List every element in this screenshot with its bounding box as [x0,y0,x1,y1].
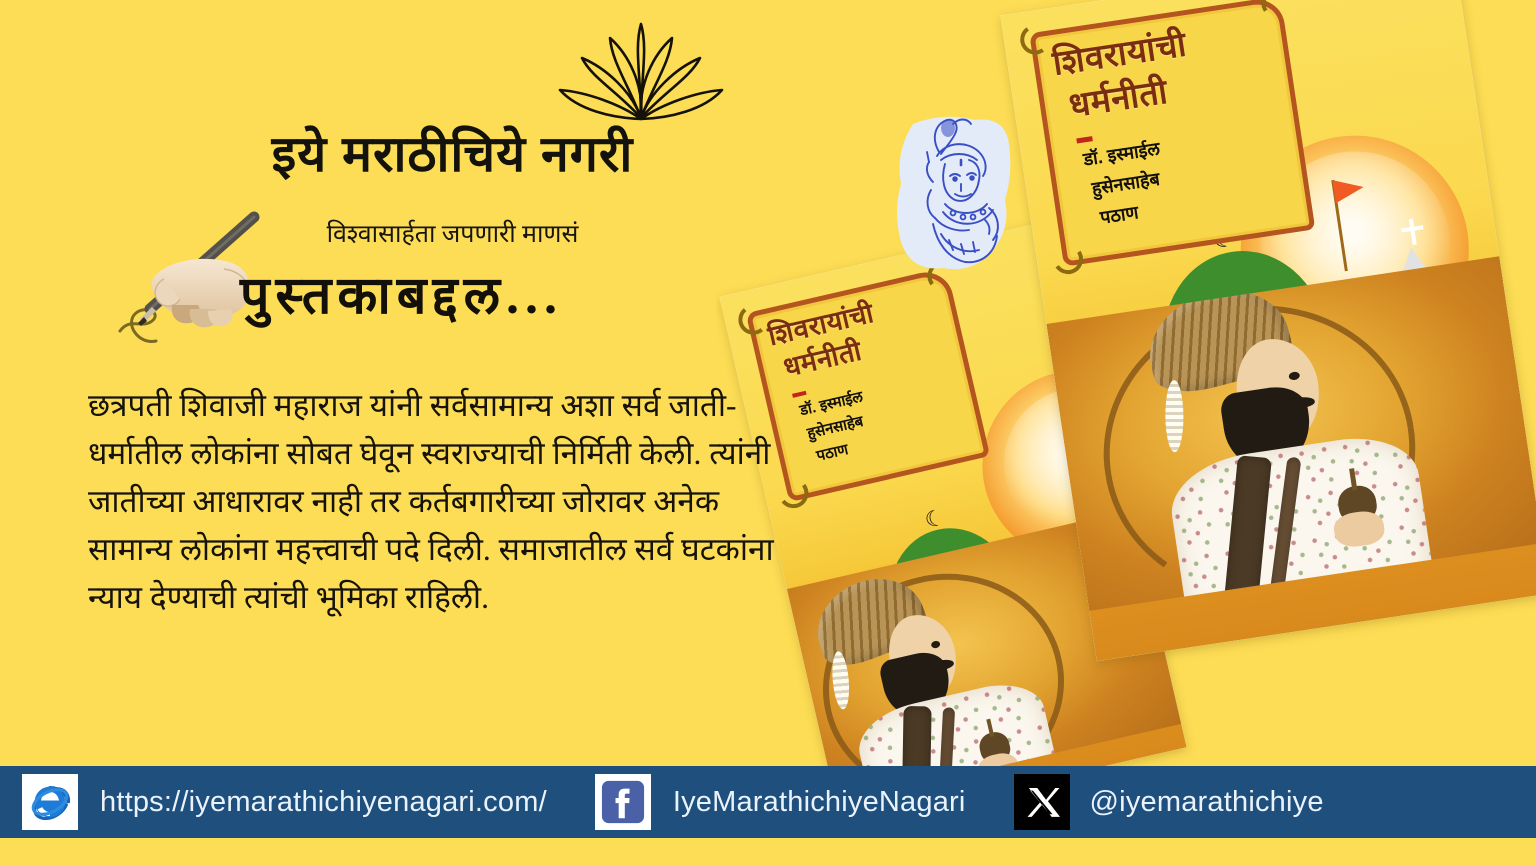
title-rule [1076,136,1093,143]
footer-website-label: https://iyemarathichiyenagari.com/ [100,786,547,819]
footer-x-label: @iyemarathichiye [1090,786,1324,819]
footer-bottom-strip [0,838,1536,865]
x-twitter-icon [1014,774,1070,830]
cartouche-curl-tl [737,303,770,336]
article-body: छत्रपती शिवाजी महाराज यांनी सर्वसामान्य … [88,382,794,621]
book-title-line1: शिवरायांची [766,300,877,350]
section-heading: पुस्तकाबद्दल... [240,258,563,329]
title-rule [792,391,807,398]
footer-item-x[interactable]: @iyemarathichiye [1014,766,1324,838]
lotus-icon [556,18,726,126]
page-title: इये मराठीचिये नगरी [0,118,905,186]
book-title-cartouche-primary: शिवरायांची धर्मनीती डॉ. इस्माईल हुसेनसाह… [1029,0,1315,267]
footer-item-facebook[interactable]: IyeMarathichiyeNagari [595,766,966,838]
poster-canvas: ☾ शिवरायांची धर्मनीती डॉ. इस्माईल हुसेनस… [0,0,1536,865]
social-footer-bar: https://iyemarathichiyenagari.com/ IyeMa… [0,766,1536,838]
book-author-line3: पठाण [1099,202,1140,228]
footer-facebook-label: IyeMarathichiyeNagari [673,786,966,819]
shivaji-portrait-primary [1046,256,1536,611]
book-author-line1: डॉ. इस्माईल [1082,138,1161,170]
book-title-line2: धर्मनीती [1067,75,1170,123]
book-author-line2: हुसेनसाहेब [806,413,865,443]
book-author-line3: पठाण [815,441,850,465]
cartouche-curl-bl [1050,241,1085,276]
book-title-line1: शिवरायांची [1051,27,1189,81]
crescent-finial-icon: ☾ [923,506,947,532]
article-paragraph: छत्रपती शिवाजी महाराज यांनी सर्वसामान्य … [88,382,794,621]
cartouche-curl-tl [1018,22,1053,57]
facebook-icon [595,774,651,830]
krishna-illustration-icon [893,112,1015,278]
internet-explorer-icon [22,774,78,830]
book-author-line2: हुसेनसाहेब [1090,169,1161,200]
footer-item-website[interactable]: https://iyemarathichiyenagari.com/ [22,766,547,838]
cartouche-curl-tr [1259,0,1294,21]
